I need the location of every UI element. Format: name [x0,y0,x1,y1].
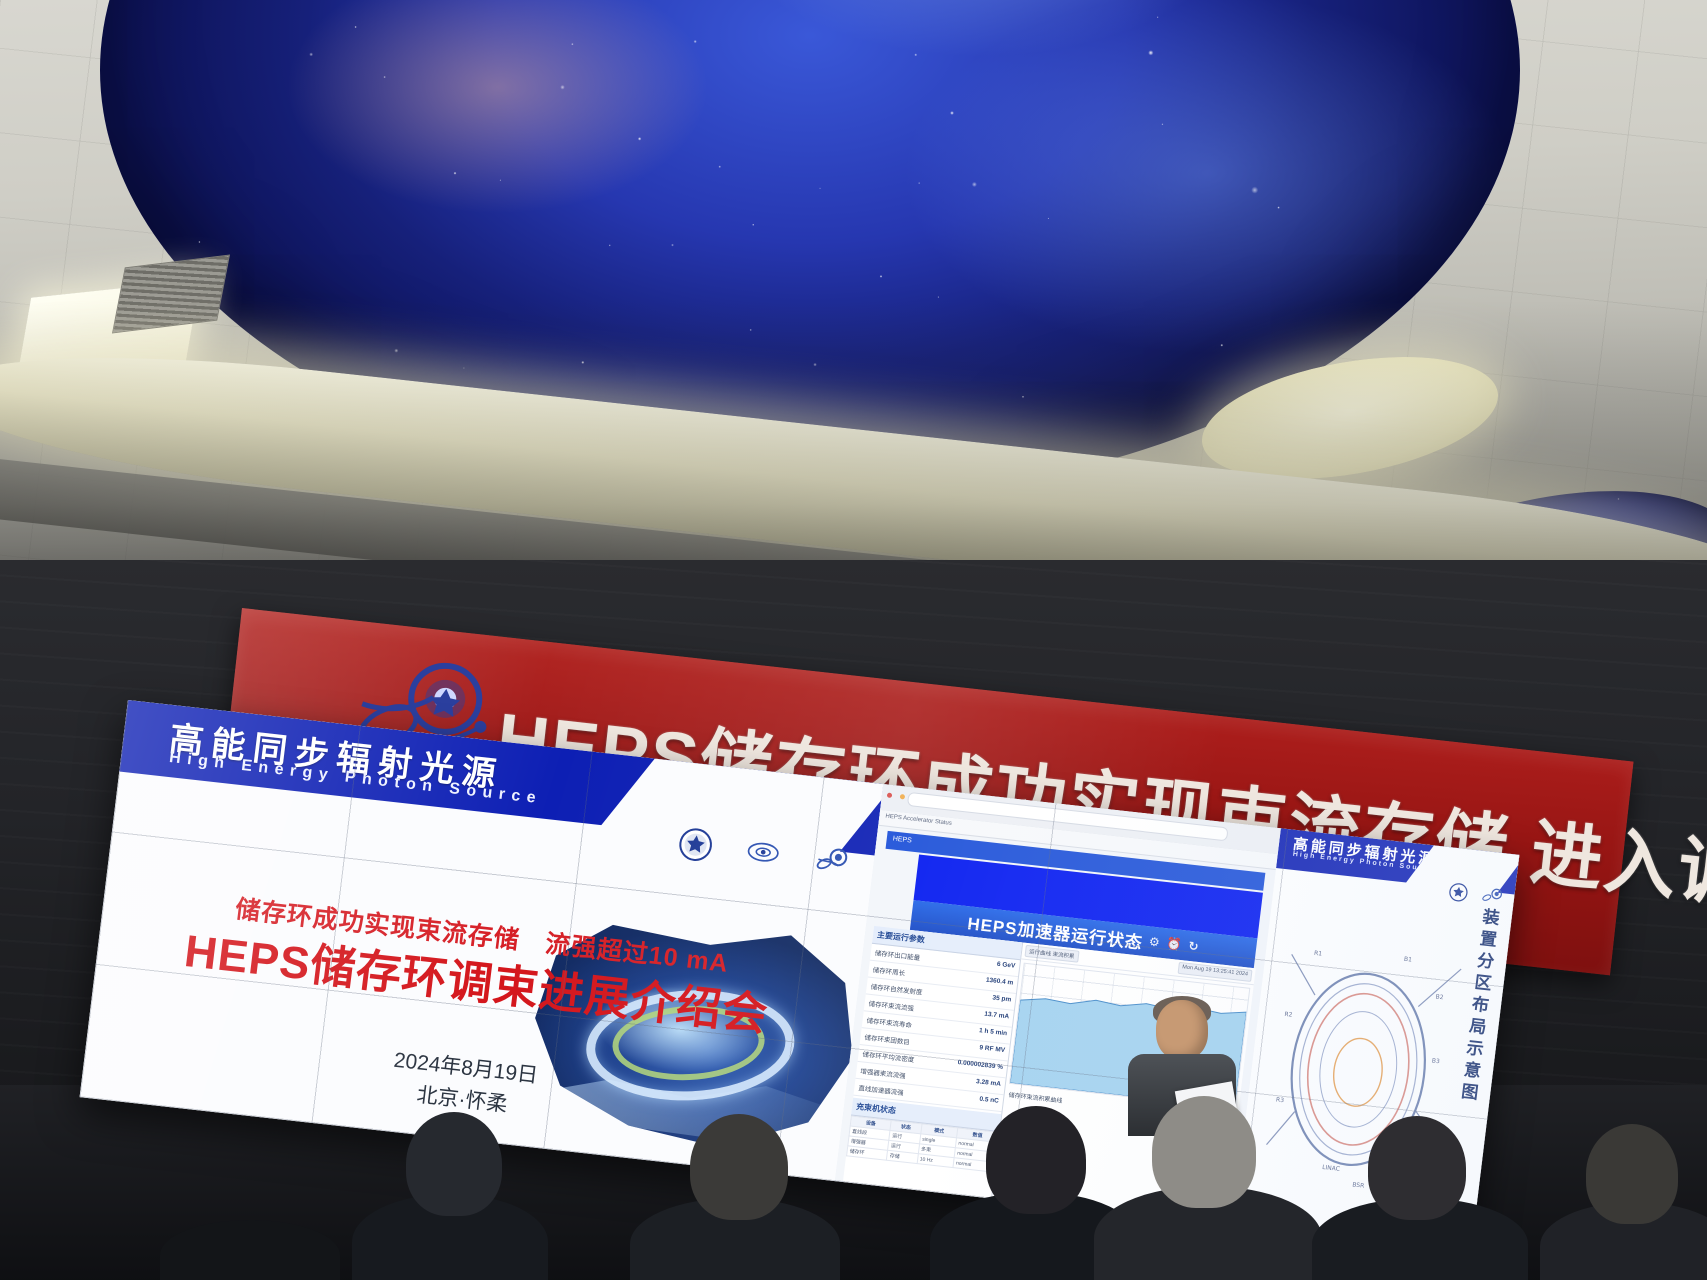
param-label: 储存环自然发射度 [870,981,923,997]
param-label: 储存环出口能量 [874,947,920,962]
close-icon[interactable] [887,793,893,799]
audience-row [0,1100,1707,1280]
param-value: 13.7 mA [984,1011,1010,1024]
cas-ihep-logo-icon [677,826,715,864]
params-list: 储存环出口能量6 GeV储存环周长1360.4 m储存环自然发射度35 pm储存… [853,944,1020,1112]
param-label: 储存环束流流强 [868,998,914,1013]
ihep-logo-icon [745,835,782,869]
presenter-head [1156,1000,1208,1060]
param-label: 储存环平均流密度 [862,1048,915,1064]
audience-head-2 [690,1114,788,1220]
audience-head-1 [406,1112,502,1216]
audience-head-5 [1368,1116,1466,1220]
svg-text:B3: B3 [1431,1057,1440,1065]
chart-toolbar-left[interactable]: 运行曲线 束流积累 [1024,945,1079,963]
audience-shoulders-7 [160,1220,340,1280]
param-label: 储存环束团数目 [864,1032,910,1047]
svg-text:R1: R1 [1314,950,1323,958]
audience-head-6 [1586,1124,1678,1224]
param-label: 储存环周长 [872,964,906,978]
ceiling [0,0,1707,640]
param-value: 35 pm [992,994,1012,1006]
minimize-icon[interactable] [900,794,906,800]
param-value: 0.000002839 % [957,1059,1003,1074]
clock-icon[interactable]: ⏰ [1166,936,1184,952]
param-value: 1360.4 m [985,977,1014,990]
param-value: 1 h 5 min [978,1027,1007,1040]
screenshot-root: HEPS HEPS储存环成功实现束流存储 进入调束快行道 高能同步辐射光源 Hi… [0,0,1707,1280]
gear-icon[interactable]: ⚙ [1148,934,1161,949]
param-value: 9 RF MV [979,1044,1006,1057]
svg-text:R2: R2 [1284,1011,1293,1019]
param-label: 储存环束流寿命 [866,1015,912,1030]
ihep-logo-icon-small [1447,881,1469,903]
heps-logo-icon-small [1479,885,1505,906]
param-label: 增强器束流流强 [860,1065,906,1080]
audience-head-3 [986,1106,1086,1214]
audience-head-4 [1152,1096,1256,1208]
svg-text:B1: B1 [1404,956,1413,964]
param-value: 6 GeV [996,961,1016,973]
refresh-icon[interactable]: ↻ [1188,939,1201,954]
heps-logo-icon-slide [812,843,851,877]
param-label: 直线加速器流强 [858,1082,904,1097]
param-value: 3.28 mA [975,1078,1001,1091]
svg-text:B2: B2 [1435,993,1444,1001]
